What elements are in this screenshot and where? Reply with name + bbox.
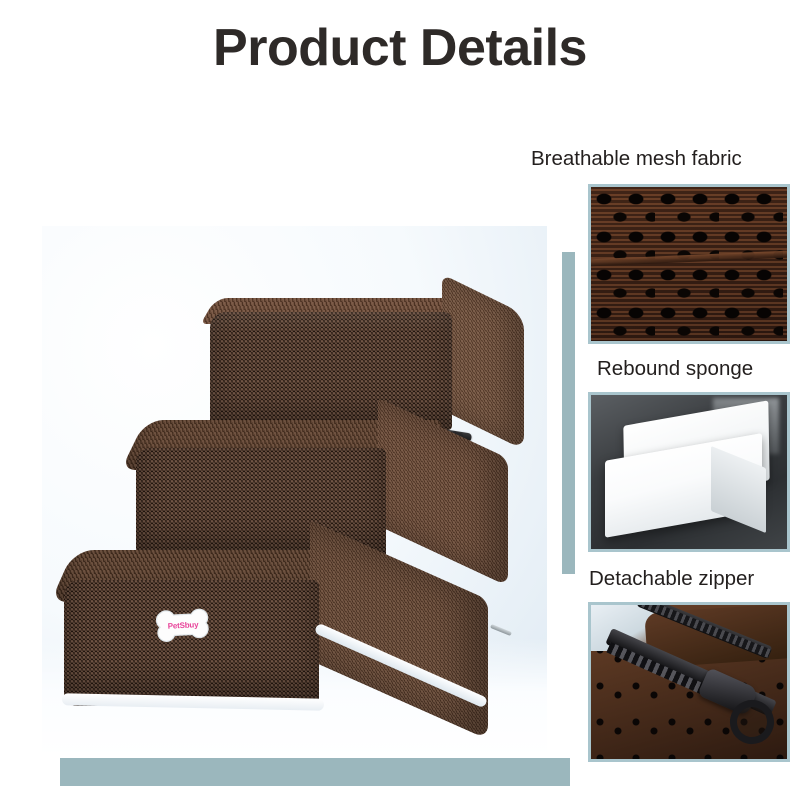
hero-accent-bar <box>60 758 570 786</box>
pet-stairs-illustration <box>58 298 538 718</box>
feature-label-rebound-sponge: Rebound sponge <box>597 357 753 381</box>
metal-zipper-pull-icon <box>490 624 512 636</box>
feature-label-breathable-mesh-fabric: Breathable mesh fabric <box>531 147 742 171</box>
brand-bone-tag: PetSbuy <box>147 604 219 646</box>
feature-label-detachable-zipper: Detachable zipper <box>589 567 754 591</box>
vertical-accent-connector <box>562 252 575 574</box>
product-details-page: Product Details PetSbuy <box>0 0 800 800</box>
feature-photo-rebound-sponge <box>588 392 790 552</box>
step-top-front <box>210 312 452 430</box>
feature-photo-detachable-zipper <box>588 602 790 762</box>
hero-product-image <box>42 226 547 758</box>
brand-tag-text: PetSbuy <box>146 602 220 648</box>
feature-photo-breathable-mesh-fabric <box>588 184 790 344</box>
page-title: Product Details <box>0 18 800 78</box>
step-top-side <box>442 274 524 450</box>
